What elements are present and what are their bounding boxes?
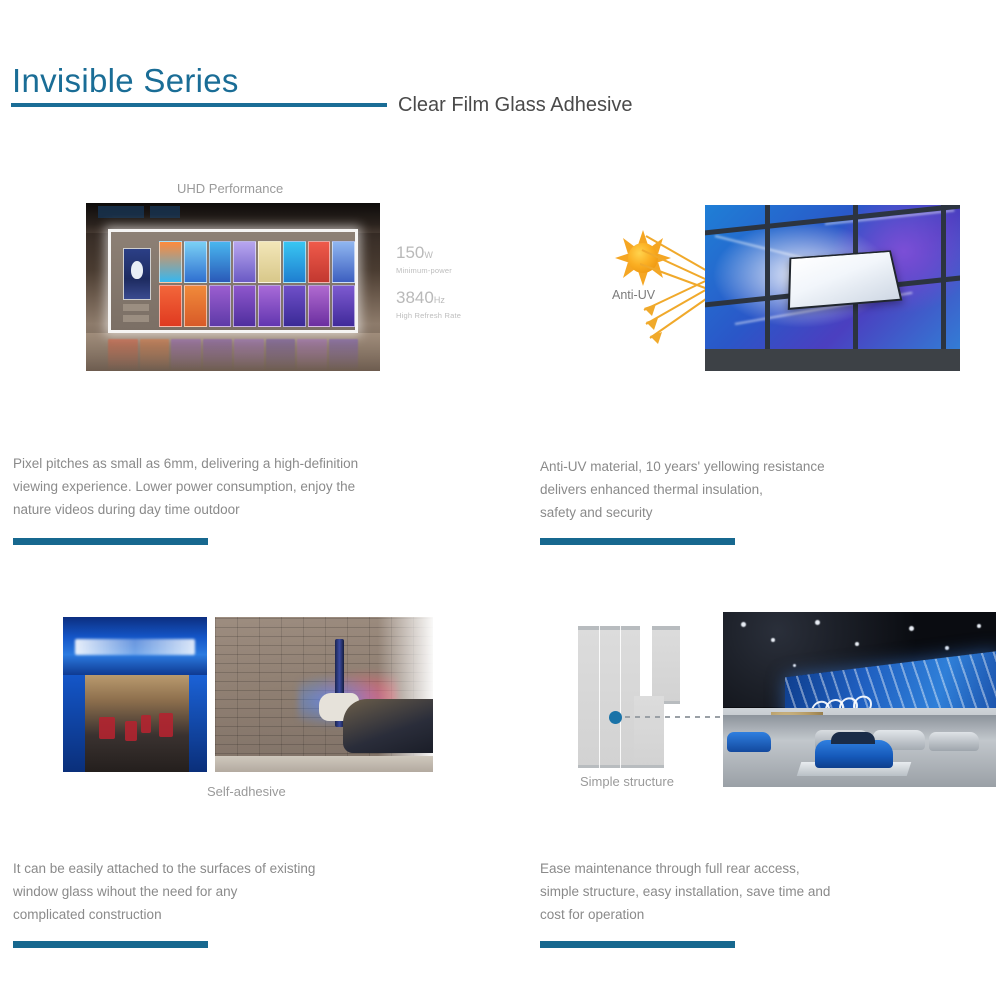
structure-diagram (578, 620, 693, 768)
storefront-right-led (189, 675, 207, 772)
caption-self-adhesive: Self-adhesive (207, 784, 286, 799)
description-adhesive-line-2: window glass wihout the need for any (13, 880, 237, 904)
spec-label-power: Minimum-power (396, 265, 506, 277)
page-subtitle: Clear Film Glass Adhesive (398, 94, 633, 117)
description-structure-line-2: simple structure, easy installation, sav… (540, 880, 830, 904)
ground-strip (215, 756, 433, 772)
storefront-interior (85, 675, 189, 772)
facade-base-band (705, 349, 960, 371)
installer-arm (343, 699, 433, 753)
description-uhd-line-1: Pixel pitches as small as 6mm, deliverin… (13, 452, 358, 476)
glass-facade-photo (705, 205, 960, 371)
accent-bar-uhd (13, 538, 208, 545)
led-display-unit (108, 229, 358, 333)
expo-car-blue-left (727, 732, 771, 752)
connection-dot-icon (609, 711, 622, 724)
storefront-left-led (63, 675, 85, 772)
floor-reflection-tiles (108, 339, 358, 371)
spec-value-refresh: 3840Hz (396, 288, 506, 310)
structure-panel-left (578, 626, 640, 768)
caption-simple-structure: Simple structure (580, 774, 674, 789)
spec-value-power: 150W (396, 243, 506, 265)
structure-panel-mid (634, 696, 664, 768)
spec-unit-refresh: Hz (434, 295, 445, 305)
spec-number-power: 150 (396, 243, 424, 262)
description-adhesive-line-1: It can be easily attached to the surface… (13, 857, 315, 881)
led-tile-grid (159, 241, 355, 327)
spec-group: 150W Minimum-power 3840Hz High Refresh R… (396, 243, 506, 322)
description-uhd-line-2: viewing experience. Lower power consumpt… (13, 475, 355, 499)
storefront-photo (63, 617, 207, 772)
audi-expo-photo (723, 612, 996, 787)
spec-unit-power: W (424, 250, 433, 260)
description-structure-line-3: cost for operation (540, 903, 644, 927)
storefront-led-sign (63, 617, 207, 675)
description-antiuv-line-1: Anti-UV material, 10 years' yellowing re… (540, 455, 825, 479)
title-underline-rule (11, 103, 387, 107)
spec-number-refresh: 3840 (396, 288, 434, 307)
storefront-shutter (85, 675, 189, 709)
description-antiuv-line-2: delivers enhanced thermal insulation, (540, 478, 763, 502)
expo-car-silver-3 (929, 732, 979, 751)
film-installation-photo (215, 617, 433, 772)
side-display-screen (123, 248, 151, 300)
page-title: Invisible Series (12, 62, 239, 100)
open-window-pane (788, 250, 903, 310)
spec-label-refresh: High Refresh Rate (396, 310, 506, 322)
structure-panel-right (652, 626, 680, 704)
description-antiuv-line-3: safety and security (540, 501, 653, 525)
description-structure-line-1: Ease maintenance through full rear acces… (540, 857, 800, 881)
caption-uhd-performance: UHD Performance (177, 181, 283, 196)
accent-bar-adhesive (13, 941, 208, 948)
expo-hero-car (815, 740, 893, 768)
led-wall-photo (86, 203, 380, 371)
accent-bar-structure (540, 941, 735, 948)
accent-bar-antiuv (540, 538, 735, 545)
description-uhd-line-3: nature videos during day time outdoor (13, 498, 240, 522)
page-header: Invisible Series Clear Film Glass Adhesi… (0, 0, 1000, 140)
description-adhesive-line-3: complicated construction (13, 903, 162, 927)
